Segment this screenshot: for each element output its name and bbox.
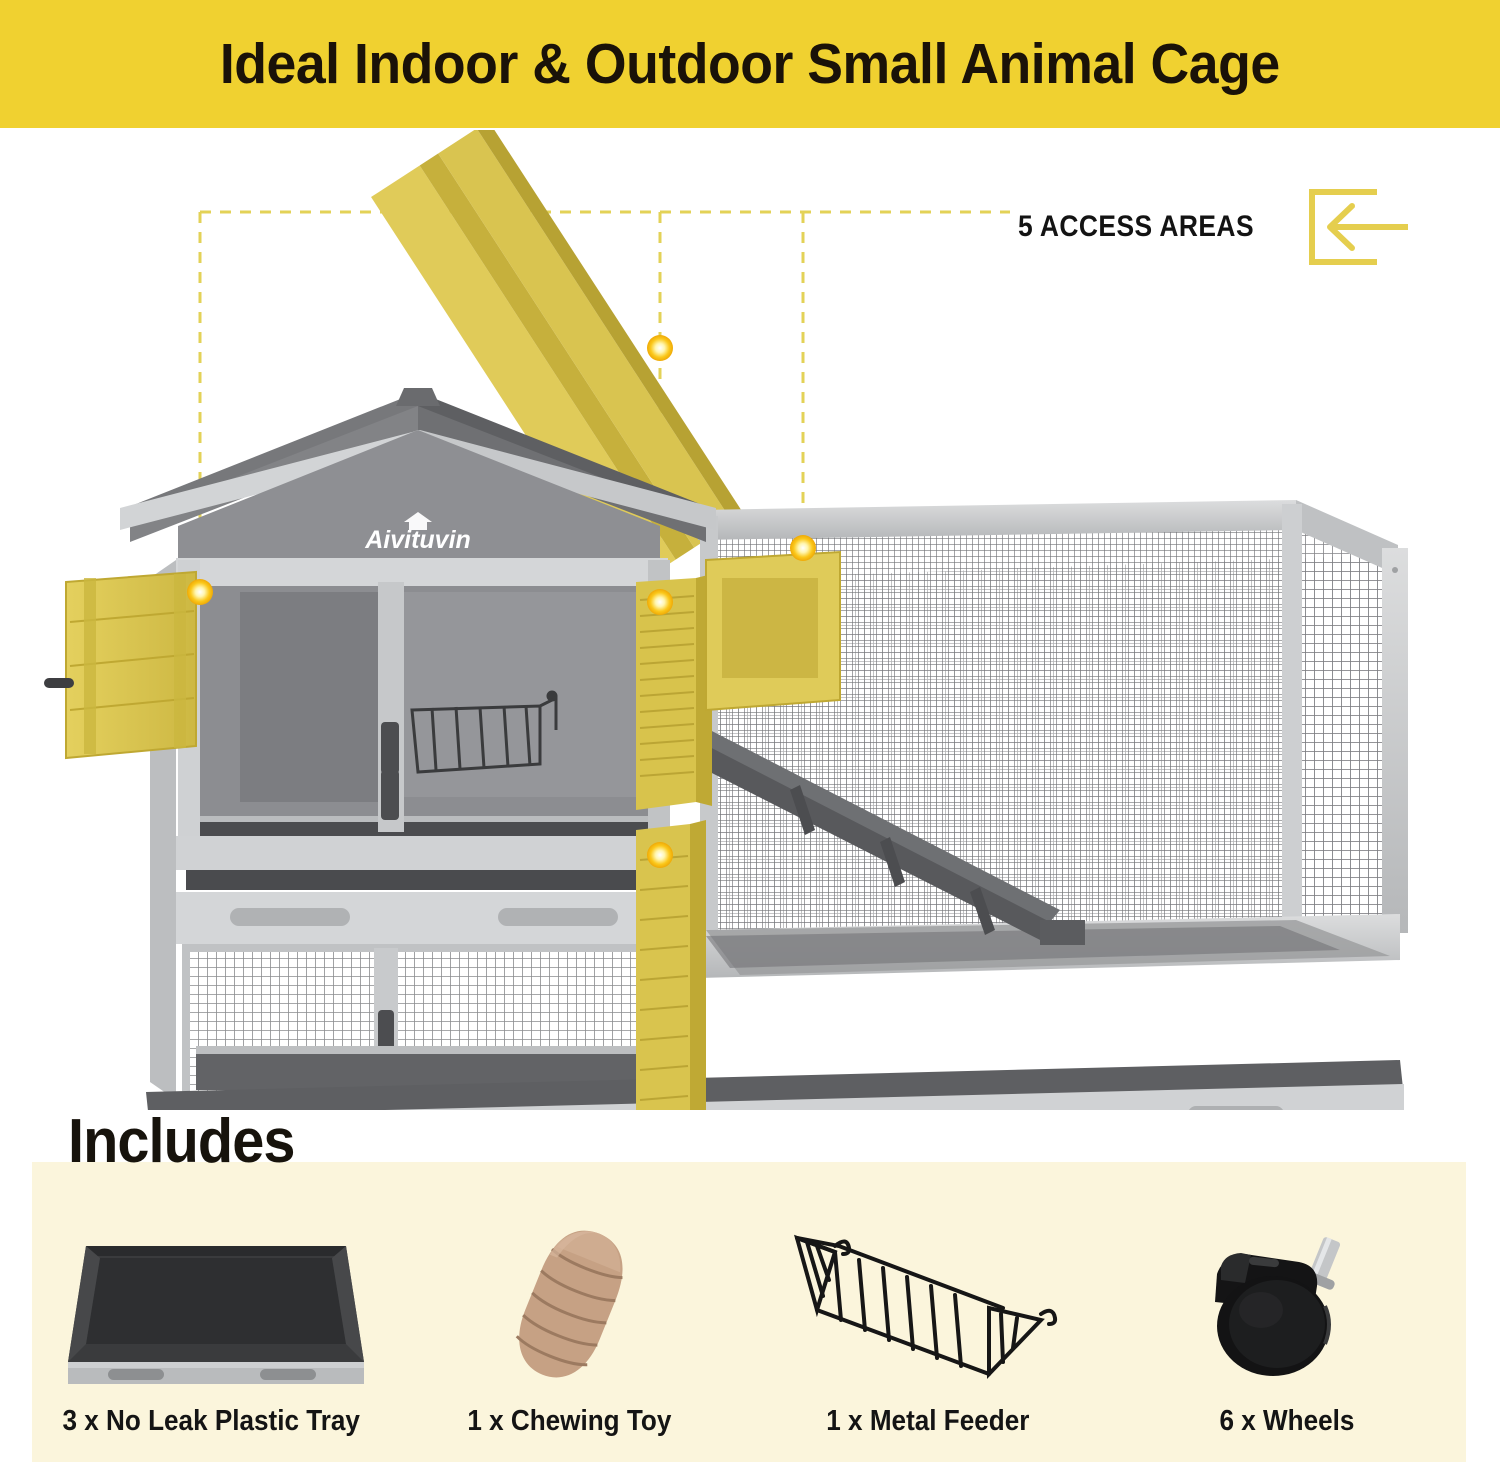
access-door-left — [44, 572, 196, 758]
chew-toy-icon — [470, 1222, 670, 1390]
includes-item-label: 6 x Wheels — [1219, 1405, 1354, 1438]
chew-toy-art — [470, 1221, 670, 1391]
plastic-tray-art — [46, 1221, 376, 1391]
includes-item-label: 1 x Chewing Toy — [468, 1405, 672, 1438]
caster-wheel-art — [1187, 1221, 1387, 1391]
marker-dot-3 — [790, 535, 816, 561]
includes-items-row: 3 x No Leak Plastic Tray — [32, 1180, 1466, 1462]
plastic-tray-icon — [46, 1222, 376, 1390]
caster-wheel-icon — [1187, 1222, 1387, 1390]
access-areas-label: 5 ACCESS AREAS — [1018, 210, 1254, 244]
marker-dot-5 — [647, 842, 673, 868]
access-door-middle — [636, 574, 712, 810]
includes-item: 1 x Chewing Toy — [391, 1180, 750, 1462]
includes-heading: Includes — [68, 1106, 294, 1177]
marker-dot-2 — [647, 335, 673, 361]
includes-item: 6 x Wheels — [1108, 1180, 1467, 1462]
includes-item: 1 x Metal Feeder — [749, 1180, 1108, 1462]
includes-item: 3 x No Leak Plastic Tray — [32, 1180, 391, 1462]
enter-arrow-icon — [1302, 186, 1412, 268]
marker-dot-1 — [187, 579, 213, 605]
access-door-lower — [636, 820, 706, 1110]
metal-feeder-art — [773, 1221, 1083, 1391]
metal-feeder-icon — [773, 1222, 1083, 1390]
hutch-house: Aivituvin — [120, 388, 716, 1100]
product-illustration: Aivituvin — [0, 130, 1500, 1110]
access-door-upper-right — [706, 552, 840, 710]
page-title: Ideal Indoor & Outdoor Small Animal Cage — [220, 31, 1280, 97]
marker-dot-4 — [647, 589, 673, 615]
svg-text:Aivituvin: Aivituvin — [364, 526, 471, 554]
includes-item-label: 3 x No Leak Plastic Tray — [63, 1405, 360, 1438]
access-areas-callout: 5 ACCESS AREAS — [1018, 186, 1412, 268]
includes-item-label: 1 x Metal Feeder — [827, 1405, 1030, 1438]
header-banner: Ideal Indoor & Outdoor Small Animal Cage — [0, 0, 1500, 128]
